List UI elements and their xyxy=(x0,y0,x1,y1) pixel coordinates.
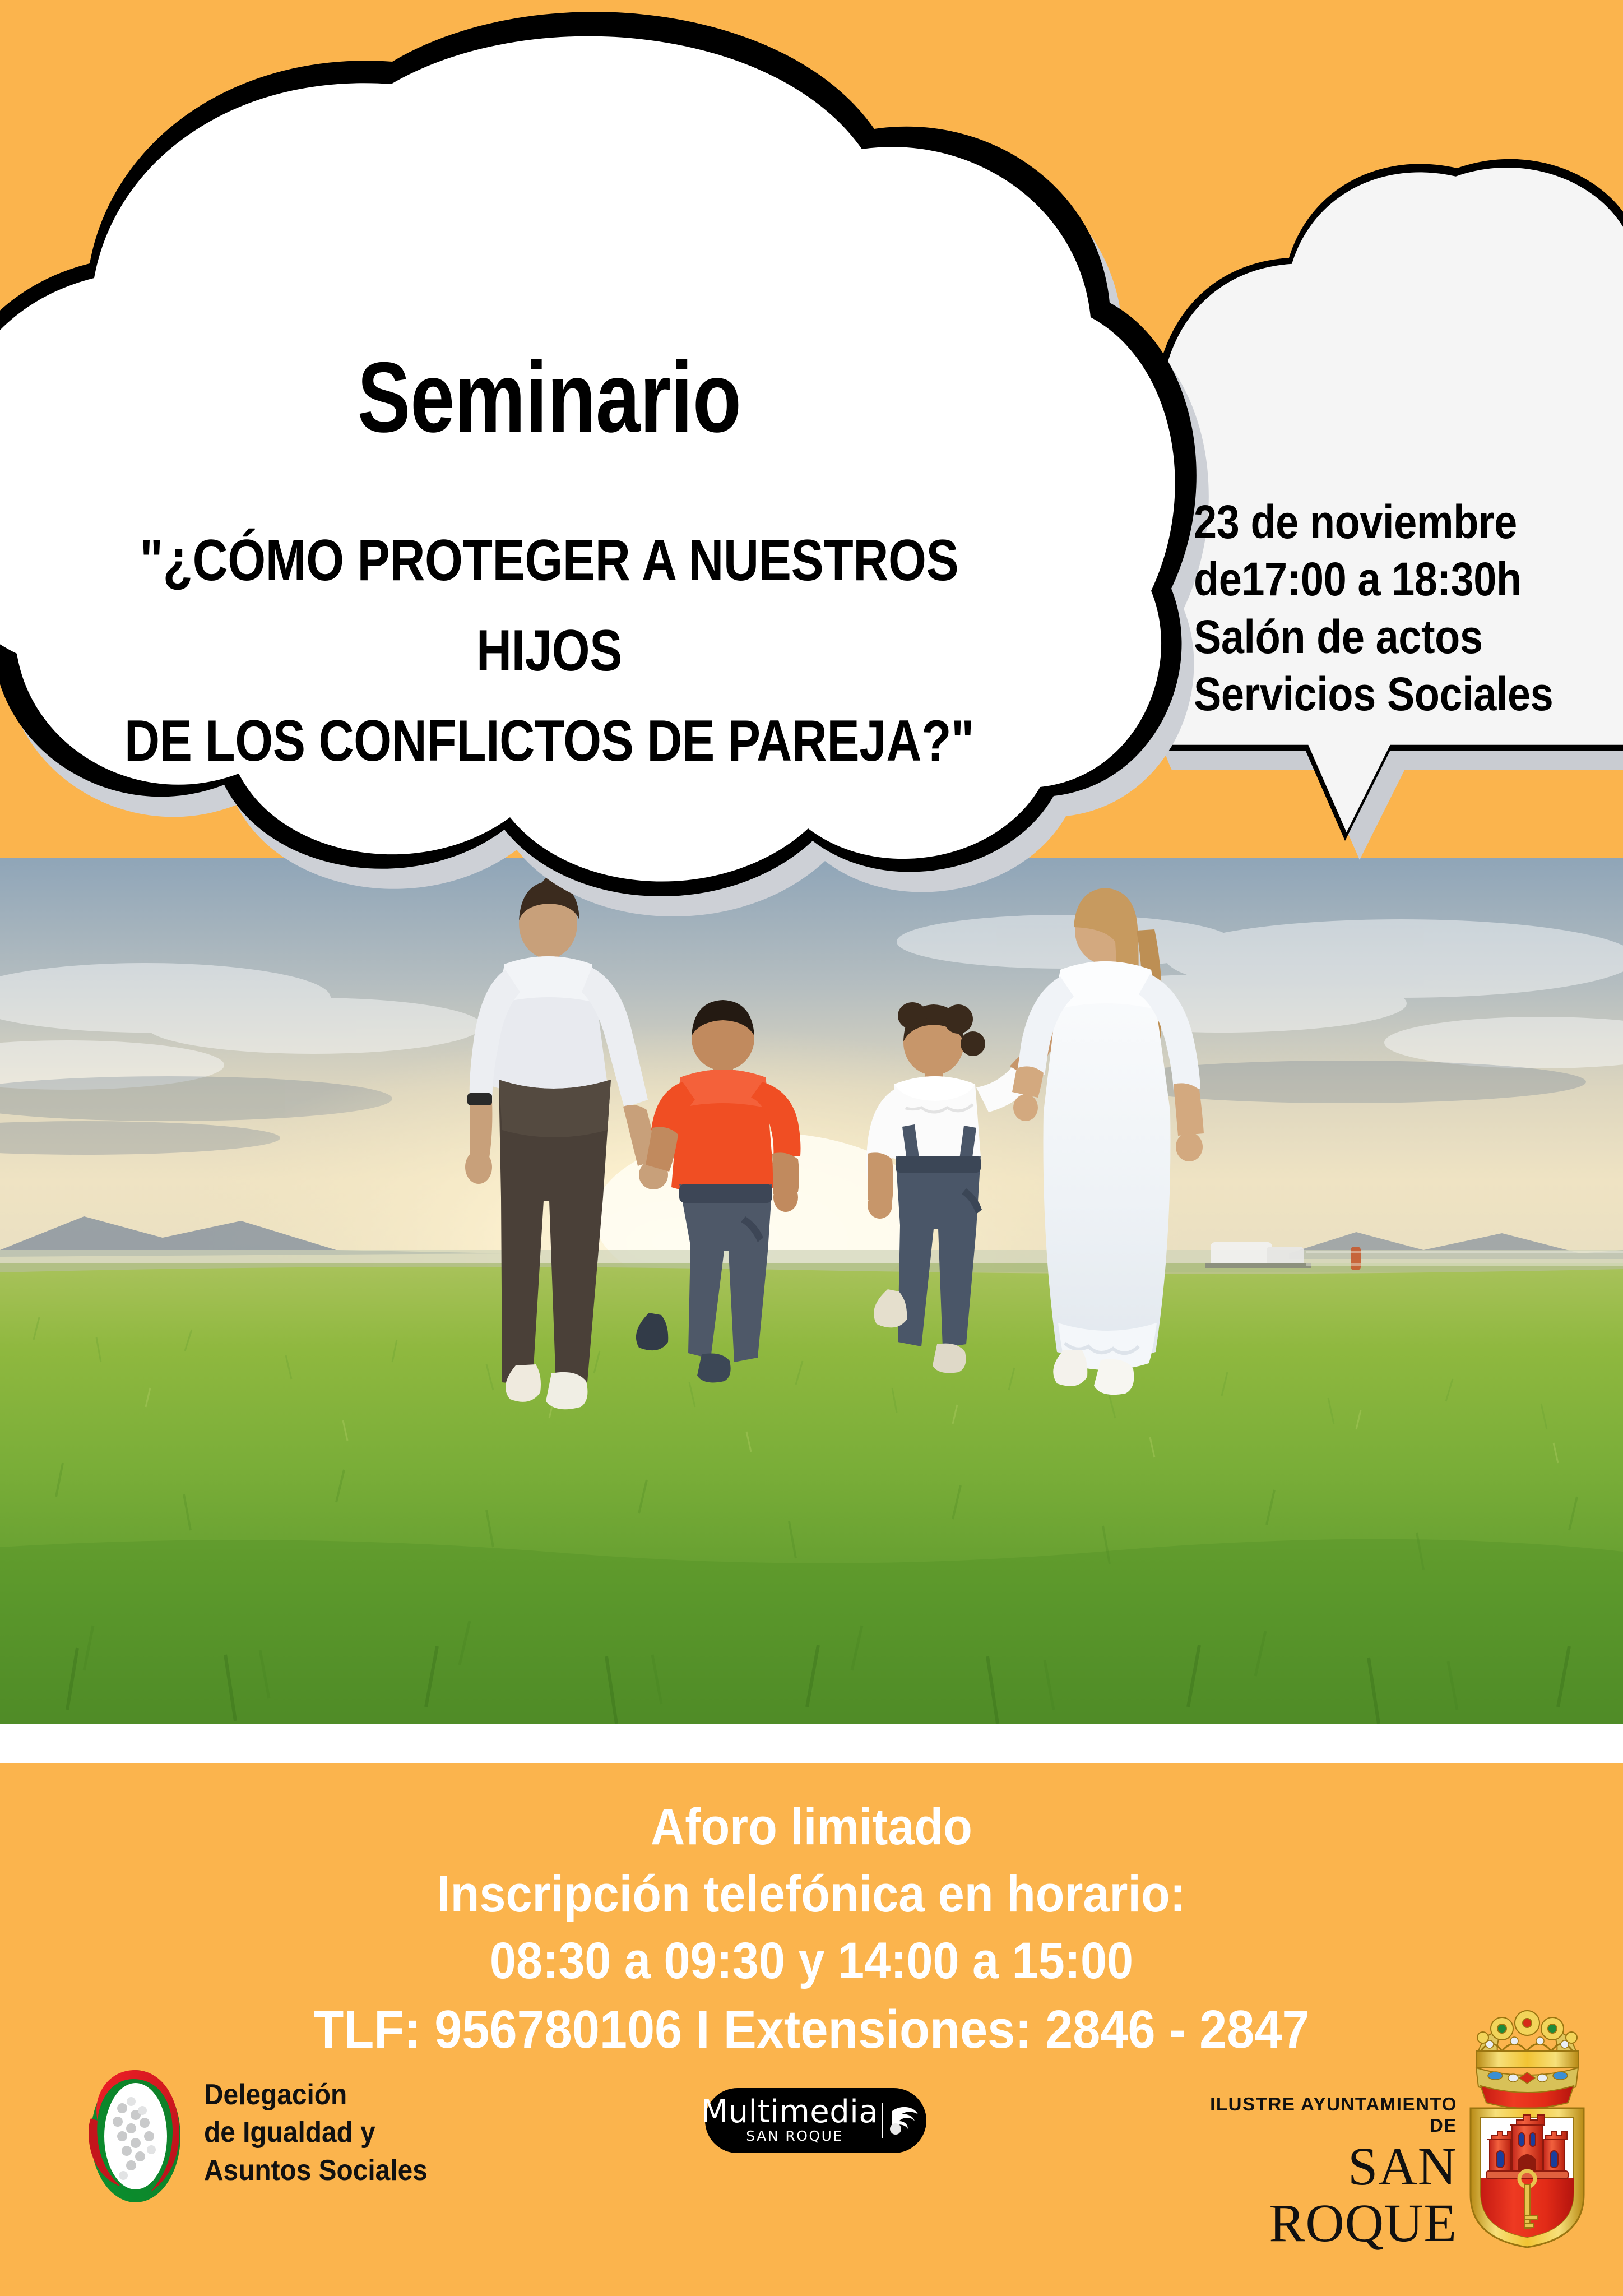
seminar-subtitle-line2: DE LOS CONFLICTOS DE PAREJA?" xyxy=(88,696,1010,786)
logo-ayuntamiento-sanroque: ILUSTRE AYUNTAMIENTO DE SAN ROQUE xyxy=(1205,2010,1608,2267)
logo-delegacion-igualdad: Delegación de Igualdad y Asuntos Sociale… xyxy=(84,2049,510,2217)
seminar-subtitle-line1: "¿CÓMO PROTEGER A NUESTROS HIJOS xyxy=(88,516,1010,696)
footer-band: Aforo limitado Inscripción telefónica en… xyxy=(0,1763,1623,2296)
multimedia-swoosh-icon xyxy=(889,2103,920,2138)
sanroque-wordmark: ILUSTRE AYUNTAMIENTO DE SAN ROQUE xyxy=(1205,2094,1457,2252)
poster-canvas: Seminario "¿CÓMO PROTEGER A NUESTROS HIJ… xyxy=(0,0,1623,2296)
seminar-title: Seminario xyxy=(110,348,989,447)
event-venue-sub: Servicios Sociales xyxy=(1194,665,1569,723)
seminar-subtitle: "¿CÓMO PROTEGER A NUESTROS HIJOS DE LOS … xyxy=(88,516,1010,787)
event-date: 23 de noviembre xyxy=(1194,493,1569,550)
multimedia-wordmark: Multimedia xyxy=(701,2097,878,2127)
registration-method: Inscripción telefónica en horario: xyxy=(65,1861,1558,1928)
multimedia-pill: Multimedia SAN ROQUE xyxy=(705,2088,926,2153)
event-time: de17:00 a 18:30h xyxy=(1194,550,1569,608)
registration-capacity: Aforo limitado xyxy=(65,1794,1558,1861)
section-divider xyxy=(0,1724,1623,1763)
crown xyxy=(1476,2011,1578,2108)
multimedia-divider xyxy=(882,2103,883,2138)
logo-row: Delegación de Igualdad y Asuntos Sociale… xyxy=(0,2038,1623,2295)
sanroque-title: SAN ROQUE xyxy=(1205,2138,1457,2252)
igualdad-mark-icon xyxy=(84,2060,185,2206)
igualdad-label: Delegación de Igualdad y Asuntos Sociale… xyxy=(204,2076,428,2190)
event-details: 23 de noviembre de17:00 a 18:30h Salón d… xyxy=(1194,493,1569,723)
multimedia-subtext: SAN ROQUE xyxy=(746,2128,843,2144)
family-photo xyxy=(0,858,1623,1724)
family-photo-illustration xyxy=(0,858,1623,1724)
logo-multimedia-sanroque: Multimedia SAN ROQUE xyxy=(705,2088,926,2153)
sanroque-subtitle: ILUSTRE AYUNTAMIENTO DE xyxy=(1205,2094,1457,2136)
event-venue: Salón de actos xyxy=(1194,608,1569,665)
igualdad-line2: de Igualdad y xyxy=(204,2114,428,2152)
registration-hours: 08:30 a 09:30 y 14:00 a 15:00 xyxy=(65,1928,1558,1995)
shield xyxy=(1471,2108,1584,2247)
sanroque-coat-of-arms-icon xyxy=(1446,2010,1608,2251)
igualdad-line1: Delegación xyxy=(204,2076,428,2114)
igualdad-line3: Asuntos Sociales xyxy=(204,2152,428,2190)
